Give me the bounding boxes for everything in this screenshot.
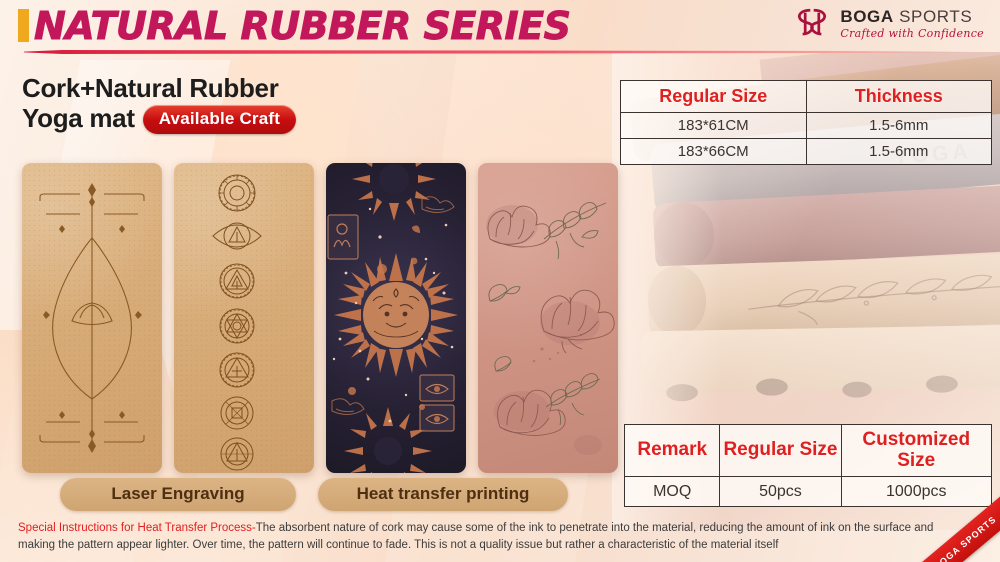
spec-header-thickness: Thickness [806, 81, 992, 113]
spec-table: Regular Size Thickness 183*61CM 1.5-6mm … [620, 80, 992, 165]
logo-name-bold: BOGA [840, 7, 893, 26]
table-header-row: Regular Size Thickness [621, 81, 992, 113]
spec-thickness-2: 1.5-6mm [806, 139, 992, 165]
moq-customized-qty: 1000pcs [841, 477, 991, 507]
moq-header-customized: Customized Size [841, 425, 991, 477]
logo-tagline: Crafted with Confidence [840, 28, 984, 39]
spec-thickness-1: 1.5-6mm [806, 113, 992, 139]
footnote-highlight: Special Instructions for Heat Transfer P… [18, 522, 256, 534]
moq-header-remark: Remark [625, 425, 720, 477]
page-title: NATURAL RUBBER SERIES [34, 4, 571, 48]
cork-chakra-mat [174, 163, 314, 473]
alignment-lines-lotus-icon [22, 163, 162, 473]
product-title-line1: Cork+Natural Rubber [22, 74, 442, 103]
title-accent-bar [18, 9, 29, 42]
product-title-line2: Yoga mat [22, 104, 135, 133]
mat-gallery [22, 163, 618, 473]
moq-regular-qty: 50pcs [720, 477, 841, 507]
table-row: MOQ 50pcs 1000pcs [625, 477, 992, 507]
page-header: NATURAL RUBBER SERIES BOGA SPORTS Crafte… [0, 0, 1000, 52]
logo-name-light: SPORTS [899, 7, 972, 26]
header-divider [0, 48, 1000, 56]
seven-chakras-icon [174, 163, 314, 473]
moq-header-regular: Regular Size [720, 425, 841, 477]
moq-label: MOQ [625, 477, 720, 507]
caption-laser-engraving: Laser Engraving [60, 478, 296, 511]
product-sheet: YOGA NATURAL RUBBER SERIES [0, 0, 1000, 562]
caption-row: Laser Engraving Heat transfer printing [22, 478, 612, 511]
table-header-row: Remark Regular Size Customized Size [625, 425, 992, 477]
available-craft-badge: Available Craft [143, 105, 296, 134]
brand-logo: BOGA SPORTS Crafted with Confidence [793, 6, 984, 40]
spec-size-2: 183*66CM [621, 139, 807, 165]
cork-alignment-lines-mat [22, 163, 162, 473]
product-heading: Cork+Natural Rubber Yoga mat Available C… [22, 74, 442, 134]
table-row: 183*61CM 1.5-6mm [621, 113, 992, 139]
celestial-sun-mat [326, 163, 466, 473]
magnolia-flowers-leaves-icon [478, 163, 618, 473]
boga-monogram-icon [793, 6, 831, 40]
caption-heat-transfer: Heat transfer printing [318, 478, 568, 511]
table-row: 183*66CM 1.5-6mm [621, 139, 992, 165]
spec-size-1: 183*61CM [621, 113, 807, 139]
moq-table: Remark Regular Size Customized Size MOQ … [624, 424, 992, 507]
footnote: Special Instructions for Heat Transfer P… [18, 520, 948, 553]
pink-magnolia-mat [478, 163, 618, 473]
sun-moon-stars-tarot-icon [326, 163, 466, 473]
spec-header-size: Regular Size [621, 81, 807, 113]
